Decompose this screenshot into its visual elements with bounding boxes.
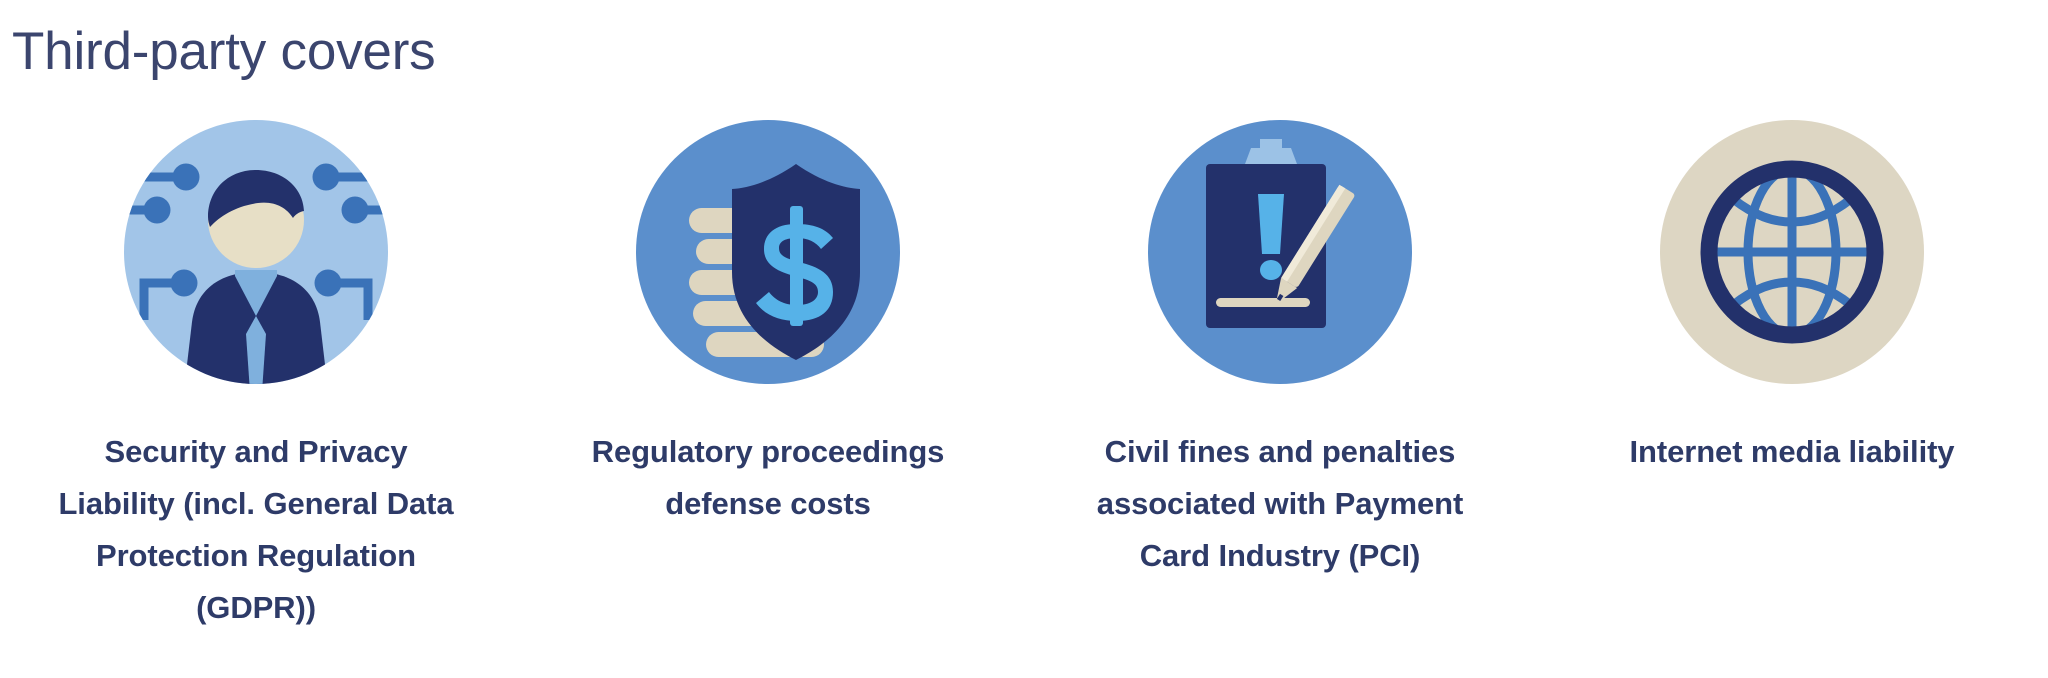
globe-icon: [1660, 120, 1924, 384]
shield-dollar-icon: [636, 120, 900, 384]
clipboard-alert-pen-icon: [1148, 120, 1412, 384]
cover-card-security-privacy-liability[interactable]: Security and Privacy Liability (incl. Ge…: [0, 120, 512, 634]
third-party-covers-panel: Third-party covers: [0, 0, 2048, 678]
cover-card-caption: Regulatory proceedings defense costs: [578, 426, 958, 530]
person-circuit-icon: [124, 120, 388, 384]
cover-card-row: Security and Privacy Liability (incl. Ge…: [0, 120, 2048, 634]
cover-card-caption: Internet media liability: [1572, 426, 2012, 478]
cover-card-caption: Security and Privacy Liability (incl. Ge…: [56, 426, 456, 634]
page-title: Third-party covers: [12, 22, 435, 83]
cover-card-internet-media-liability[interactable]: Internet media liability: [1536, 120, 2048, 478]
cover-card-caption: Civil fines and penalties associated wit…: [1080, 426, 1480, 582]
cover-card-civil-fines-pci[interactable]: Civil fines and penalties associated wit…: [1024, 120, 1536, 582]
cover-card-regulatory-defense-costs[interactable]: Regulatory proceedings defense costs: [512, 120, 1024, 530]
